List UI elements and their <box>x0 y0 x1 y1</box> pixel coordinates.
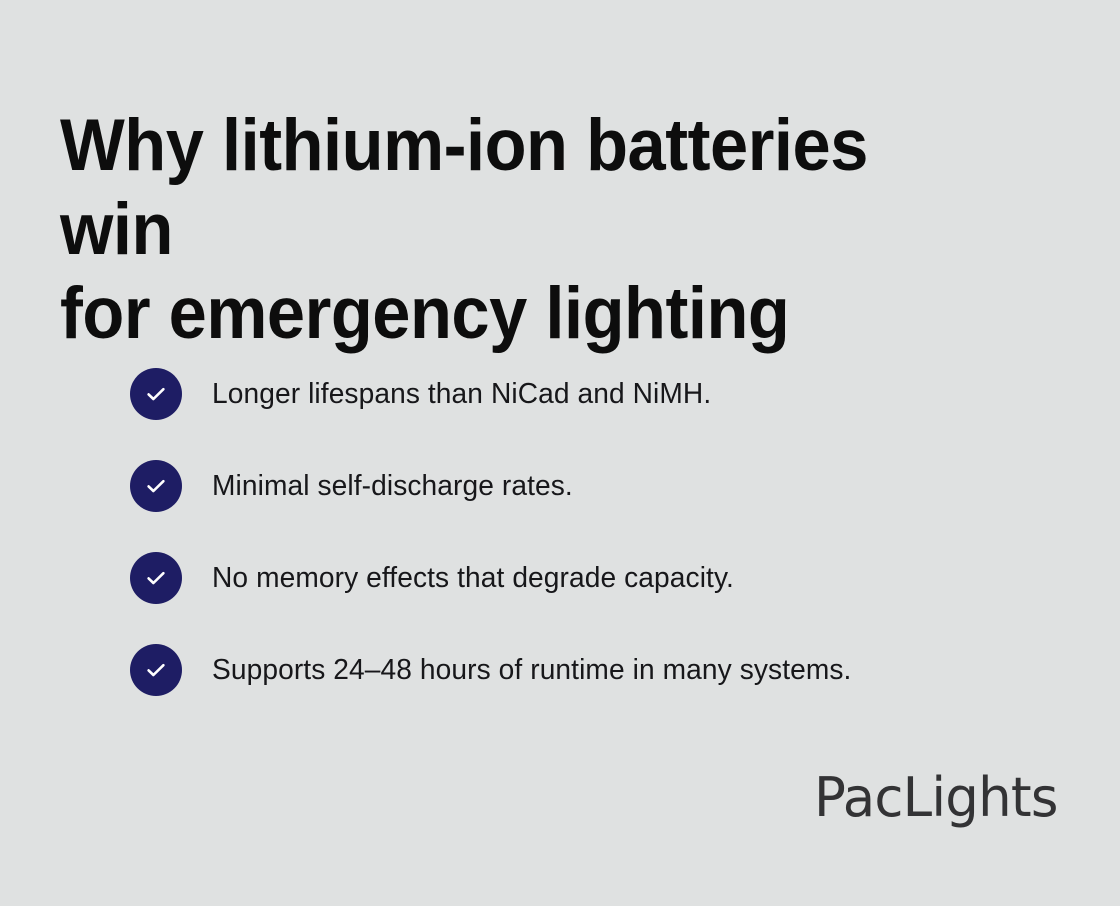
infographic-card: Why lithium-ion batteries win for emerge… <box>0 0 1120 906</box>
list-item-label: No memory effects that degrade capacity. <box>212 561 734 595</box>
list-item: No memory effects that degrade capacity. <box>130 552 1030 604</box>
list-item: Longer lifespans than NiCad and NiMH. <box>130 368 1030 420</box>
brand-logo: PacLights <box>814 769 1058 827</box>
list-item-label: Supports 24–48 hours of runtime in many … <box>212 653 851 687</box>
page-title: Why lithium-ion batteries win for emerge… <box>60 104 991 356</box>
list-item: Supports 24–48 hours of runtime in many … <box>130 644 1030 696</box>
benefits-list: Longer lifespans than NiCad and NiMH. Mi… <box>130 368 1030 696</box>
check-icon <box>130 644 182 696</box>
list-item-label: Longer lifespans than NiCad and NiMH. <box>212 377 711 411</box>
list-item: Minimal self-discharge rates. <box>130 460 1030 512</box>
list-item-label: Minimal self-discharge rates. <box>212 469 573 503</box>
check-icon <box>130 368 182 420</box>
check-icon <box>130 552 182 604</box>
check-icon <box>130 460 182 512</box>
